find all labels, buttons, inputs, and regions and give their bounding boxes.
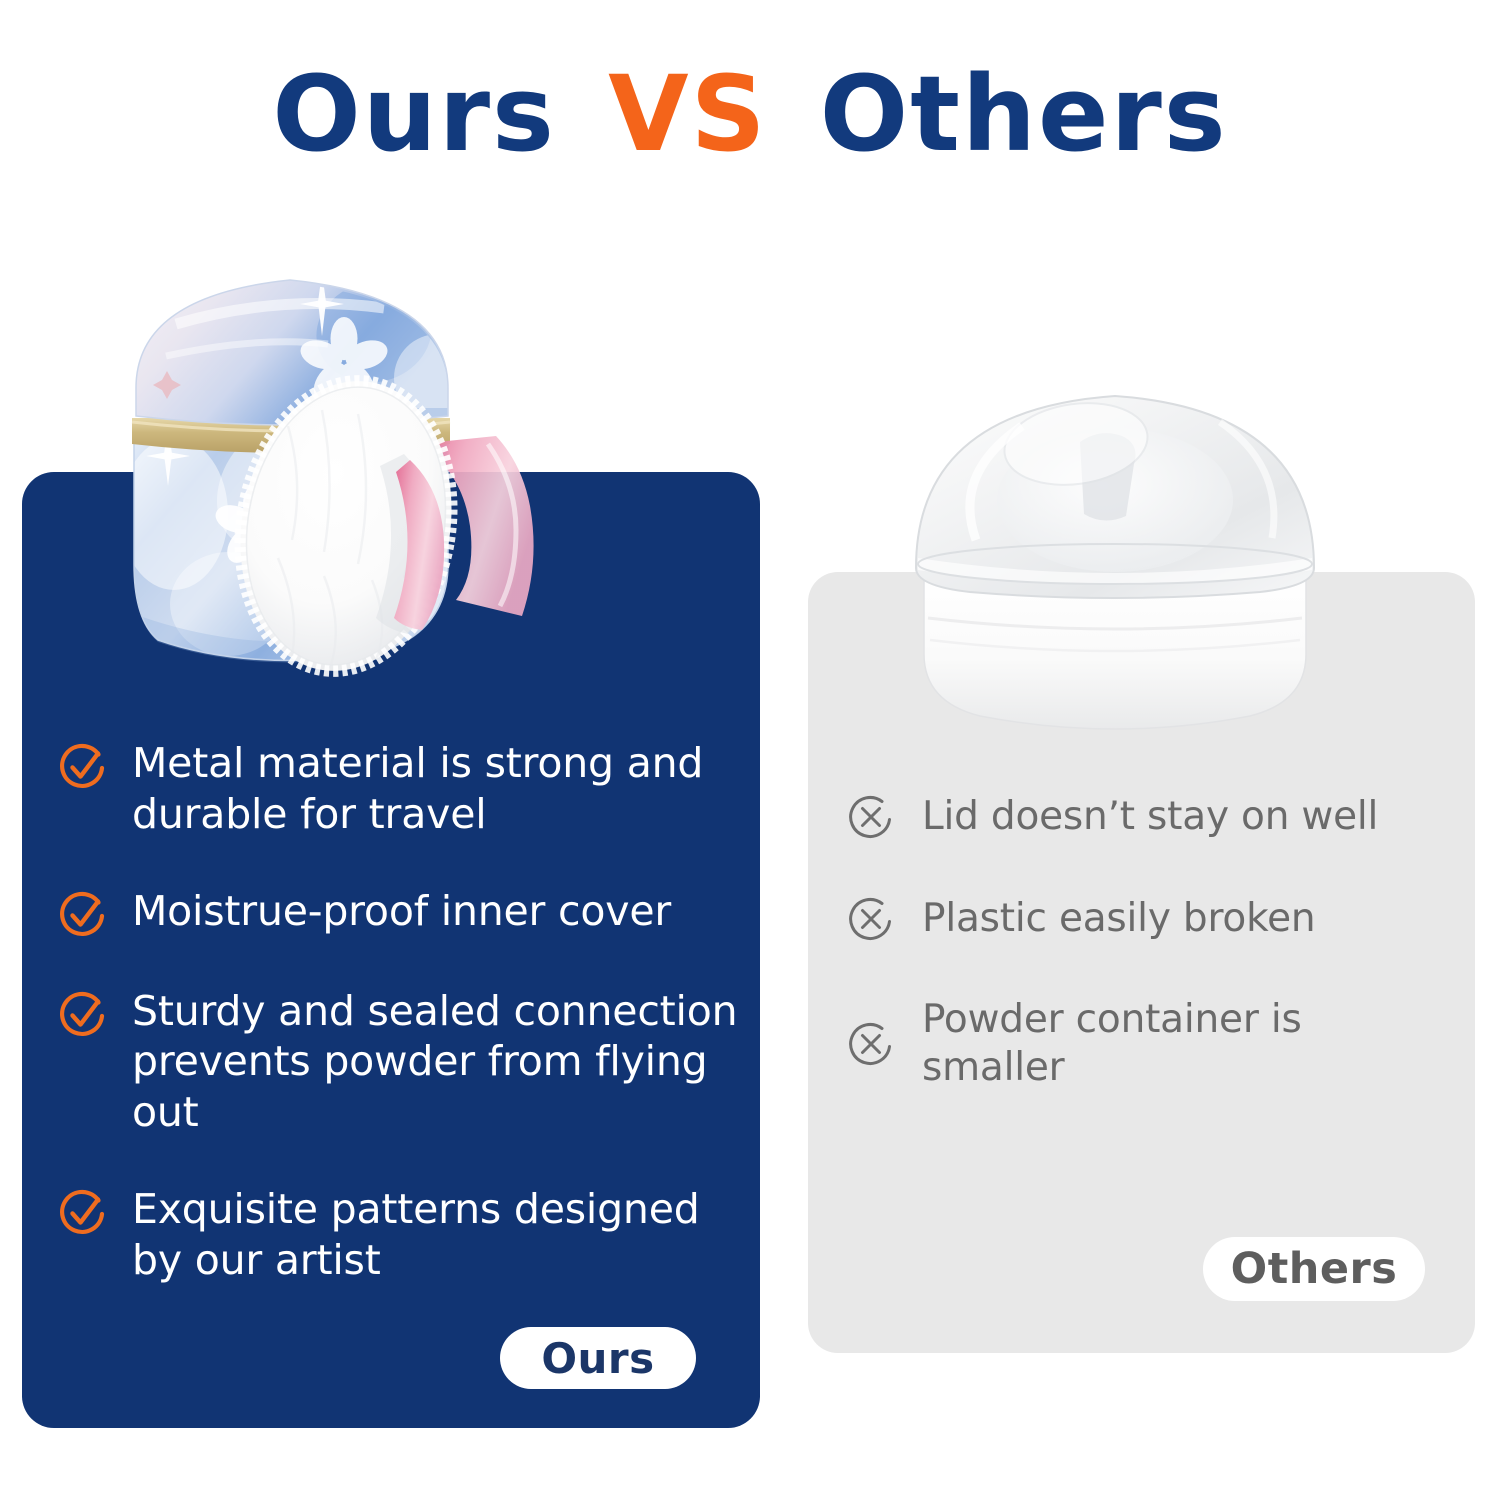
page-title: Ours VS Others (0, 62, 1500, 166)
x-circle-icon (846, 792, 896, 842)
ours-feature-text: Metal material is strong and durable for… (132, 738, 748, 840)
check-circle-icon (58, 1188, 108, 1238)
x-circle-icon (846, 894, 896, 944)
title-others-word: Others (820, 62, 1228, 166)
check-circle-icon (58, 742, 108, 792)
title-ours-word: Ours (272, 62, 556, 166)
check-circle-icon (58, 990, 108, 1040)
check-circle-icon (58, 890, 108, 940)
others-feature-item: Powder container is smaller (846, 996, 1456, 1091)
others-feature-list: Lid doesn’t stay on well Plastic easily … (846, 792, 1456, 1091)
others-feature-item: Lid doesn’t stay on well (846, 792, 1456, 842)
ours-feature-item: Metal material is strong and durable for… (58, 738, 748, 840)
x-circle-icon (846, 1019, 896, 1069)
others-badge: Others (1203, 1237, 1425, 1301)
ours-feature-item: Sturdy and sealed connection prevents po… (58, 986, 748, 1138)
others-feature-text: Lid doesn’t stay on well (922, 793, 1378, 841)
ours-badge: Ours (500, 1327, 696, 1389)
title-vs-word: VS (594, 62, 781, 166)
ours-feature-item: Exquisite patterns designed by our artis… (58, 1184, 748, 1286)
ours-feature-text: Exquisite patterns designed by our artis… (132, 1184, 748, 1286)
others-product-image (880, 382, 1350, 734)
others-feature-text: Plastic easily broken (922, 895, 1315, 943)
others-feature-text: Powder container is smaller (922, 996, 1456, 1091)
ours-feature-item: Moistrue-proof inner cover (58, 886, 748, 940)
ours-feature-list: Metal material is strong and durable for… (58, 738, 748, 1286)
ours-product-image (118, 258, 738, 688)
ours-feature-text: Moistrue-proof inner cover (132, 886, 671, 937)
others-feature-item: Plastic easily broken (846, 894, 1456, 944)
comparison-infographic: Ours VS Others (0, 0, 1500, 1500)
ours-feature-text: Sturdy and sealed connection prevents po… (132, 986, 748, 1138)
